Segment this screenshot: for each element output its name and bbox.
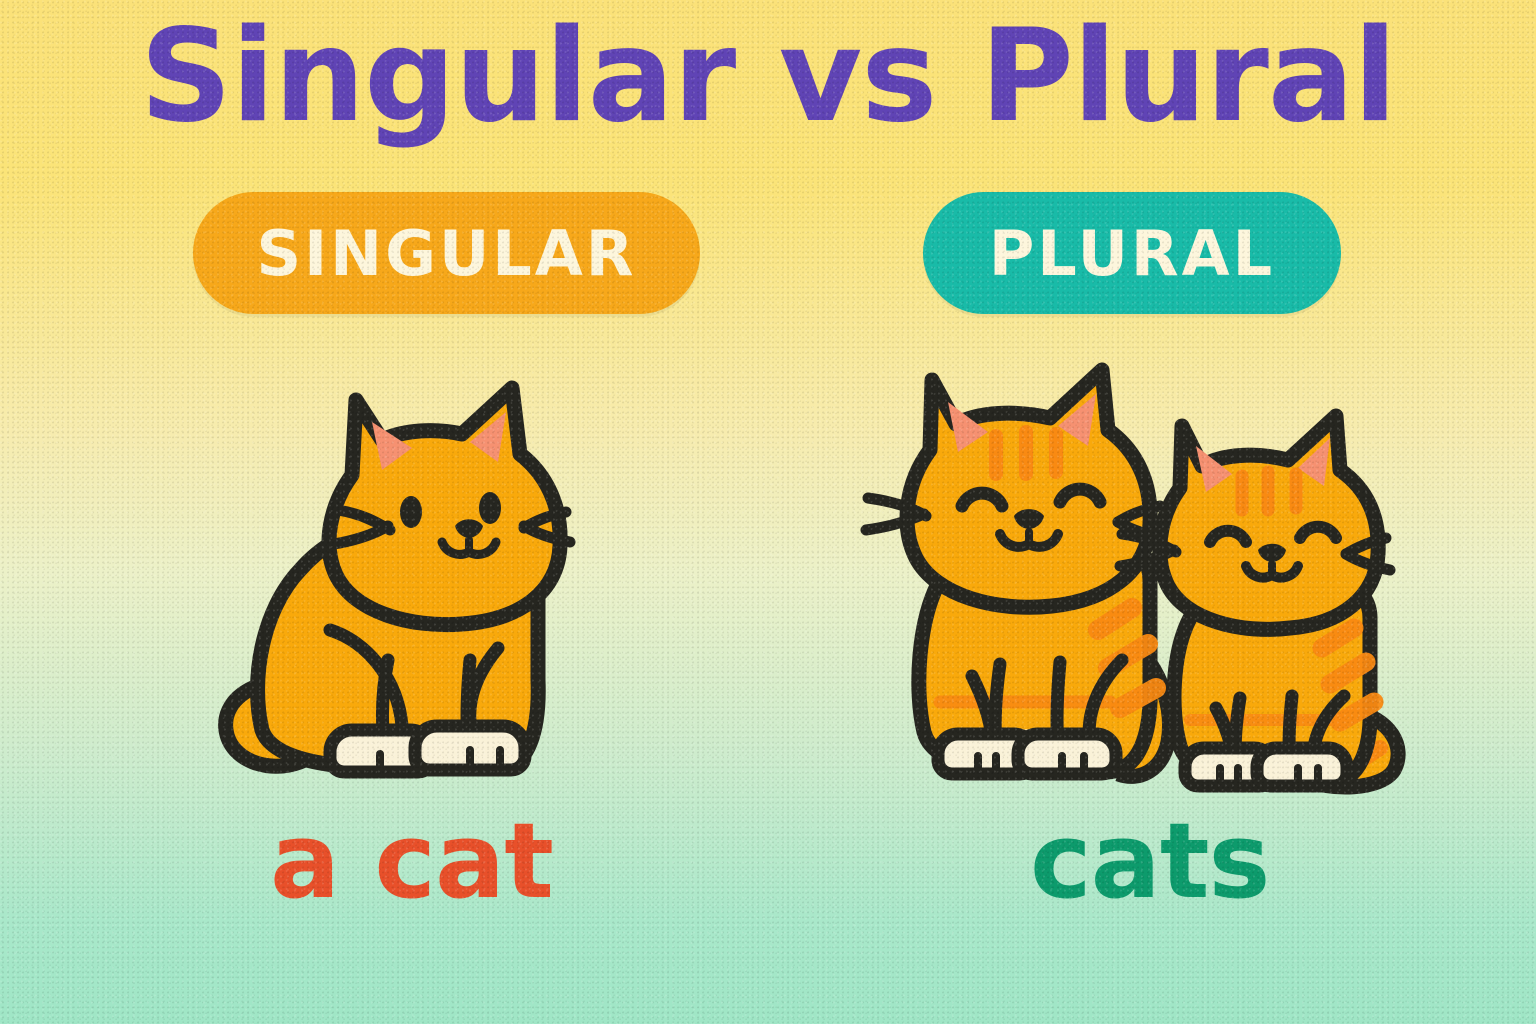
- cat-single: [226, 388, 570, 772]
- badge-plural: PLURAL: [923, 192, 1341, 314]
- caption-singular: a cat: [270, 800, 553, 922]
- badge-singular: SINGULAR: [193, 192, 700, 314]
- poster: Singular vs Plural SINGULAR PLURAL: [0, 0, 1536, 1024]
- caption-plural: cats: [1030, 800, 1269, 922]
- cats-illustration: [0, 330, 1536, 810]
- badge-plural-label: PLURAL: [989, 217, 1275, 290]
- cat-single-paws: [330, 726, 525, 772]
- cat-pair-left: [866, 370, 1170, 776]
- badge-singular-label: SINGULAR: [256, 217, 636, 290]
- page-title: Singular vs Plural: [0, 8, 1536, 146]
